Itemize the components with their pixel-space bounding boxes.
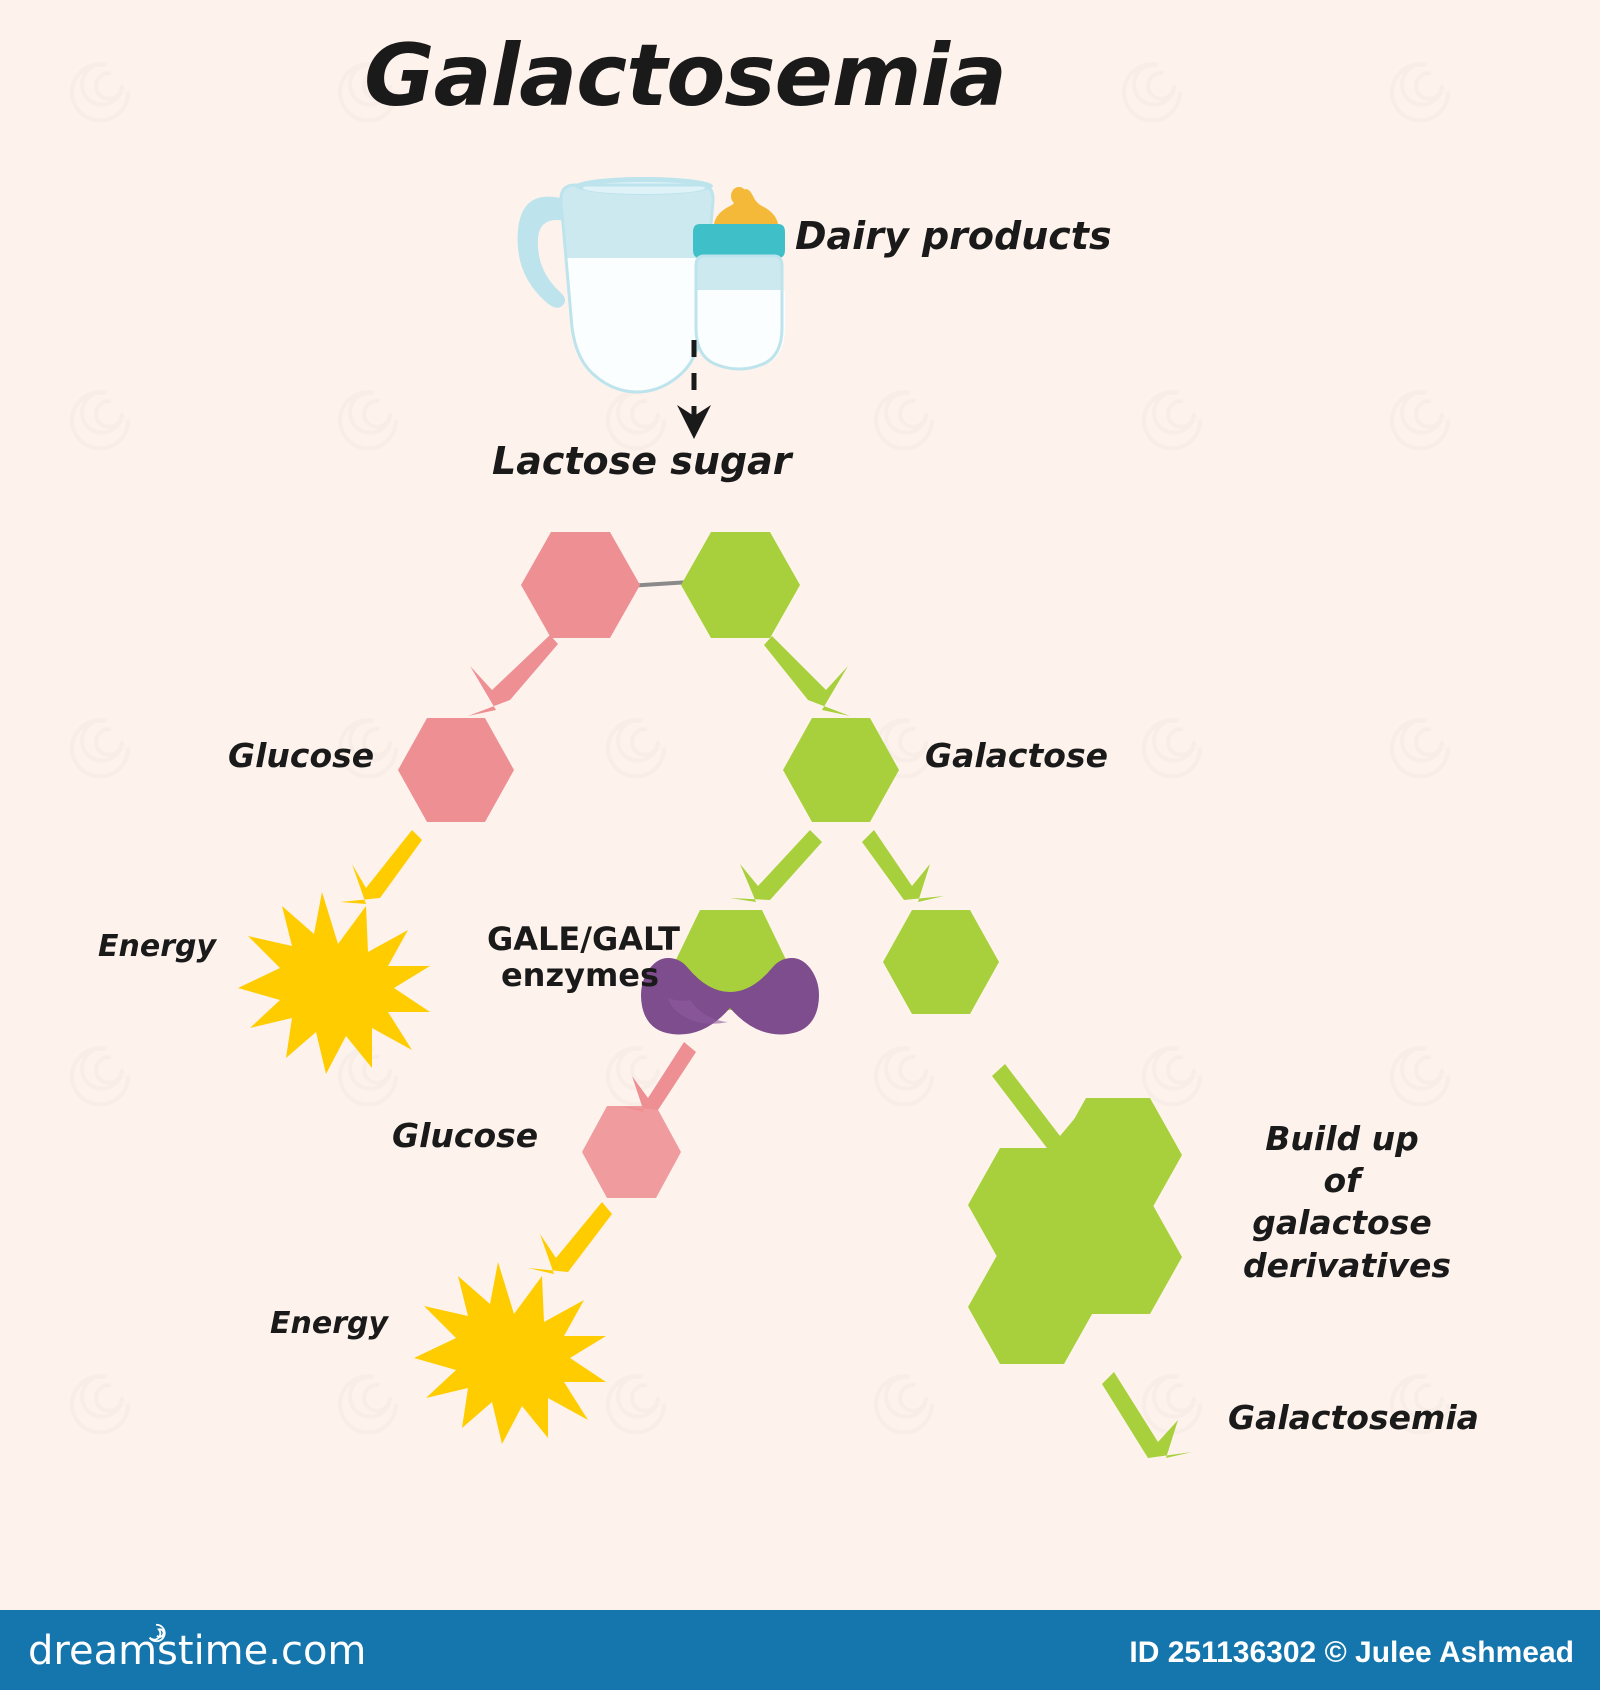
dreamstime-spiral-icon xyxy=(145,1622,167,1644)
watermark-footer: dreamstime.com ID 251136302 © Julee Ashm… xyxy=(0,1610,1600,1690)
label-energy-upper: Energy xyxy=(98,930,216,964)
page-title: Galactosemia xyxy=(0,28,1370,124)
label-energy-lower: Energy xyxy=(270,1307,388,1341)
image-credit: ID 251136302 © Julee Ashmead xyxy=(1129,1636,1574,1670)
diagram-canvas: Galactosemia Dairy products Lactose suga… xyxy=(0,0,1600,1690)
dreamstime-logo[interactable]: dreamstime.com xyxy=(28,1628,366,1674)
label-galactosemia-outcome: Galactosemia xyxy=(1228,1400,1479,1437)
label-gale-galt-enzymes: GALE/GALT enzymes xyxy=(487,922,673,994)
label-lactose-sugar: Lactose sugar xyxy=(492,440,792,483)
label-dairy-products: Dairy products xyxy=(795,215,1112,258)
label-glucose-lower: Glucose xyxy=(392,1118,538,1155)
label-galactose: Galactose xyxy=(925,738,1108,775)
label-build-up: Build up of galactose derivatives xyxy=(1243,1118,1441,1287)
label-glucose-upper: Glucose xyxy=(228,738,374,775)
